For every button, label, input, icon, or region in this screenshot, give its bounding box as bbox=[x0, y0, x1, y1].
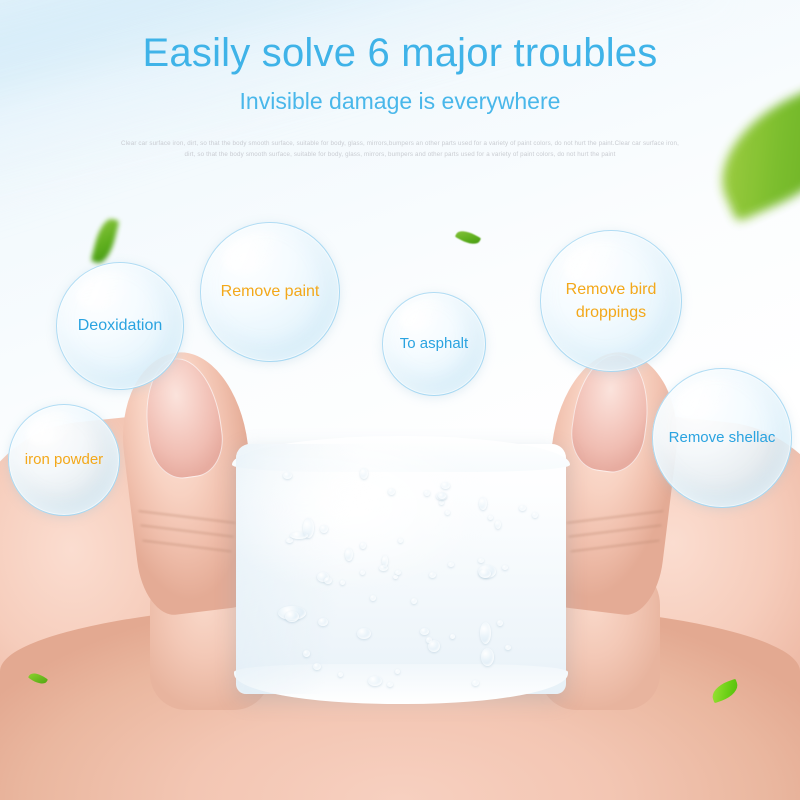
water-droplet bbox=[340, 580, 345, 585]
feature-bubble-label-line2: droppings bbox=[576, 304, 646, 321]
water-droplet bbox=[313, 663, 321, 670]
water-droplet bbox=[360, 570, 365, 575]
feature-bubble-remove-shellac[interactable]: Remove shellac bbox=[652, 368, 792, 508]
water-droplet bbox=[283, 472, 292, 479]
feature-bubble-remove-bird-droppings[interactable]: Remove bird droppings bbox=[540, 230, 682, 372]
water-droplet bbox=[320, 525, 328, 533]
water-droplet bbox=[303, 650, 310, 657]
water-droplet bbox=[424, 490, 430, 496]
water-droplet bbox=[290, 532, 308, 539]
water-droplet bbox=[286, 538, 293, 543]
water-droplet bbox=[388, 488, 395, 495]
product-banner: Easily solve 6 major troubles Invisible … bbox=[0, 0, 800, 800]
feature-bubble-iron-powder[interactable]: iron powder bbox=[8, 404, 120, 516]
water-droplet bbox=[393, 575, 398, 579]
water-droplet bbox=[387, 682, 393, 687]
water-droplet bbox=[480, 622, 491, 644]
water-droplet bbox=[428, 640, 440, 652]
water-droplet bbox=[345, 548, 353, 561]
water-droplet bbox=[285, 611, 299, 622]
water-droplet bbox=[357, 628, 371, 639]
water-droplet bbox=[448, 562, 454, 567]
water-droplet bbox=[441, 482, 450, 489]
feature-bubble-label: Remove shellac bbox=[669, 427, 776, 449]
water-droplet bbox=[324, 577, 332, 584]
water-droplet bbox=[481, 648, 494, 666]
water-droplet bbox=[420, 628, 429, 635]
water-droplet bbox=[398, 538, 403, 543]
water-droplet bbox=[450, 634, 455, 639]
water-droplet bbox=[379, 565, 388, 571]
water-droplet bbox=[472, 680, 479, 686]
water-droplet bbox=[338, 672, 343, 677]
feature-bubble-to-asphalt[interactable]: To asphalt bbox=[382, 292, 486, 396]
water-droplet bbox=[519, 505, 526, 511]
fineprint-description: Clear car surface iron, dirt, so that th… bbox=[120, 138, 680, 161]
feature-bubble-label: iron powder bbox=[25, 449, 103, 471]
water-droplet bbox=[497, 620, 503, 626]
water-droplet bbox=[478, 558, 484, 563]
feature-bubble-label-line1: Remove bird bbox=[566, 281, 657, 298]
feature-bubble-deoxidation[interactable]: Deoxidation bbox=[56, 262, 184, 390]
water-droplet bbox=[479, 497, 487, 510]
water-droplet bbox=[318, 618, 328, 626]
water-droplet bbox=[445, 510, 450, 515]
water-droplet bbox=[429, 572, 436, 578]
clay-bar-product bbox=[236, 444, 566, 694]
water-droplet bbox=[479, 569, 491, 578]
page-title: Easily solve 6 major troubles bbox=[0, 32, 800, 74]
water-droplet bbox=[411, 598, 417, 604]
water-droplet bbox=[395, 669, 400, 674]
water-droplet bbox=[370, 595, 376, 601]
water-droplet bbox=[502, 565, 508, 570]
feature-bubble-label: To asphalt bbox=[400, 333, 468, 355]
water-droplet bbox=[368, 676, 382, 686]
feature-bubble-label-wrapper: Remove bird droppings bbox=[566, 278, 657, 324]
feature-bubble-label: Remove paint bbox=[221, 280, 320, 303]
feature-bubble-remove-paint[interactable]: Remove paint bbox=[200, 222, 340, 362]
water-droplet bbox=[532, 512, 538, 518]
water-droplet bbox=[495, 520, 501, 529]
water-droplet bbox=[360, 542, 366, 549]
page-subtitle: Invisible damage is everywhere bbox=[0, 88, 800, 115]
feature-bubble-label: Deoxidation bbox=[78, 314, 163, 337]
water-droplet bbox=[505, 645, 511, 650]
water-droplet bbox=[439, 500, 444, 505]
water-droplet bbox=[360, 468, 368, 479]
water-droplet bbox=[438, 493, 446, 499]
water-droplet bbox=[488, 515, 493, 520]
